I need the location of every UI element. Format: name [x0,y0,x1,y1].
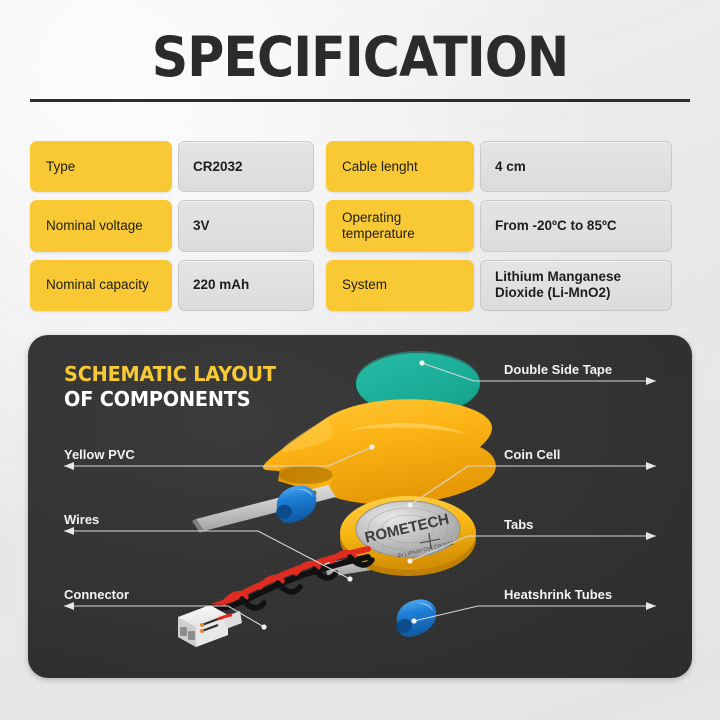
title-divider [30,99,690,102]
column-gap [314,200,326,251]
spec-value-system: Lithium Manganese Dioxide (Li-MnO2) [480,260,672,311]
callout-wires: Wires [64,512,99,527]
spec-label-type: Type [30,141,172,192]
spec-label-cable-length: Cable lenght [326,141,474,192]
spec-value-operating-temperature: From -20ºC to 85ºC [480,200,672,251]
callout-leader-lines [28,335,692,678]
callout-tabs: Tabs [504,517,533,532]
spec-value-nominal-capacity: 220 mAh [178,260,314,311]
spec-label-system: System [326,260,474,311]
callout-heatshrink-tubes: Heatshrink Tubes [504,587,612,602]
schematic-panel: SCHEMATIC LAYOUT OF COMPONENTS [28,335,692,678]
infographic-page: SPECIFICATION Type CR2032 Cable lenght 4… [0,0,720,720]
callout-double-side-tape: Double Side Tape [504,362,612,377]
callout-connector: Connector [64,587,129,602]
spec-label-nominal-capacity: Nominal capacity [30,260,172,311]
specification-table: Type CR2032 Cable lenght 4 cm Nominal vo… [30,141,692,311]
column-gap [314,260,326,311]
spec-value-type: CR2032 [178,141,314,192]
spec-label-nominal-voltage: Nominal voltage [30,200,172,251]
column-gap [314,141,326,192]
page-title: SPECIFICATION [29,27,691,87]
spec-label-operating-temperature: Operating temperature [326,200,474,251]
spec-value-cable-length: 4 cm [480,141,672,192]
callout-coin-cell: Coin Cell [504,447,560,462]
callout-yellow-pvc: Yellow PVC [64,447,135,462]
spec-value-nominal-voltage: 3V [178,200,314,251]
